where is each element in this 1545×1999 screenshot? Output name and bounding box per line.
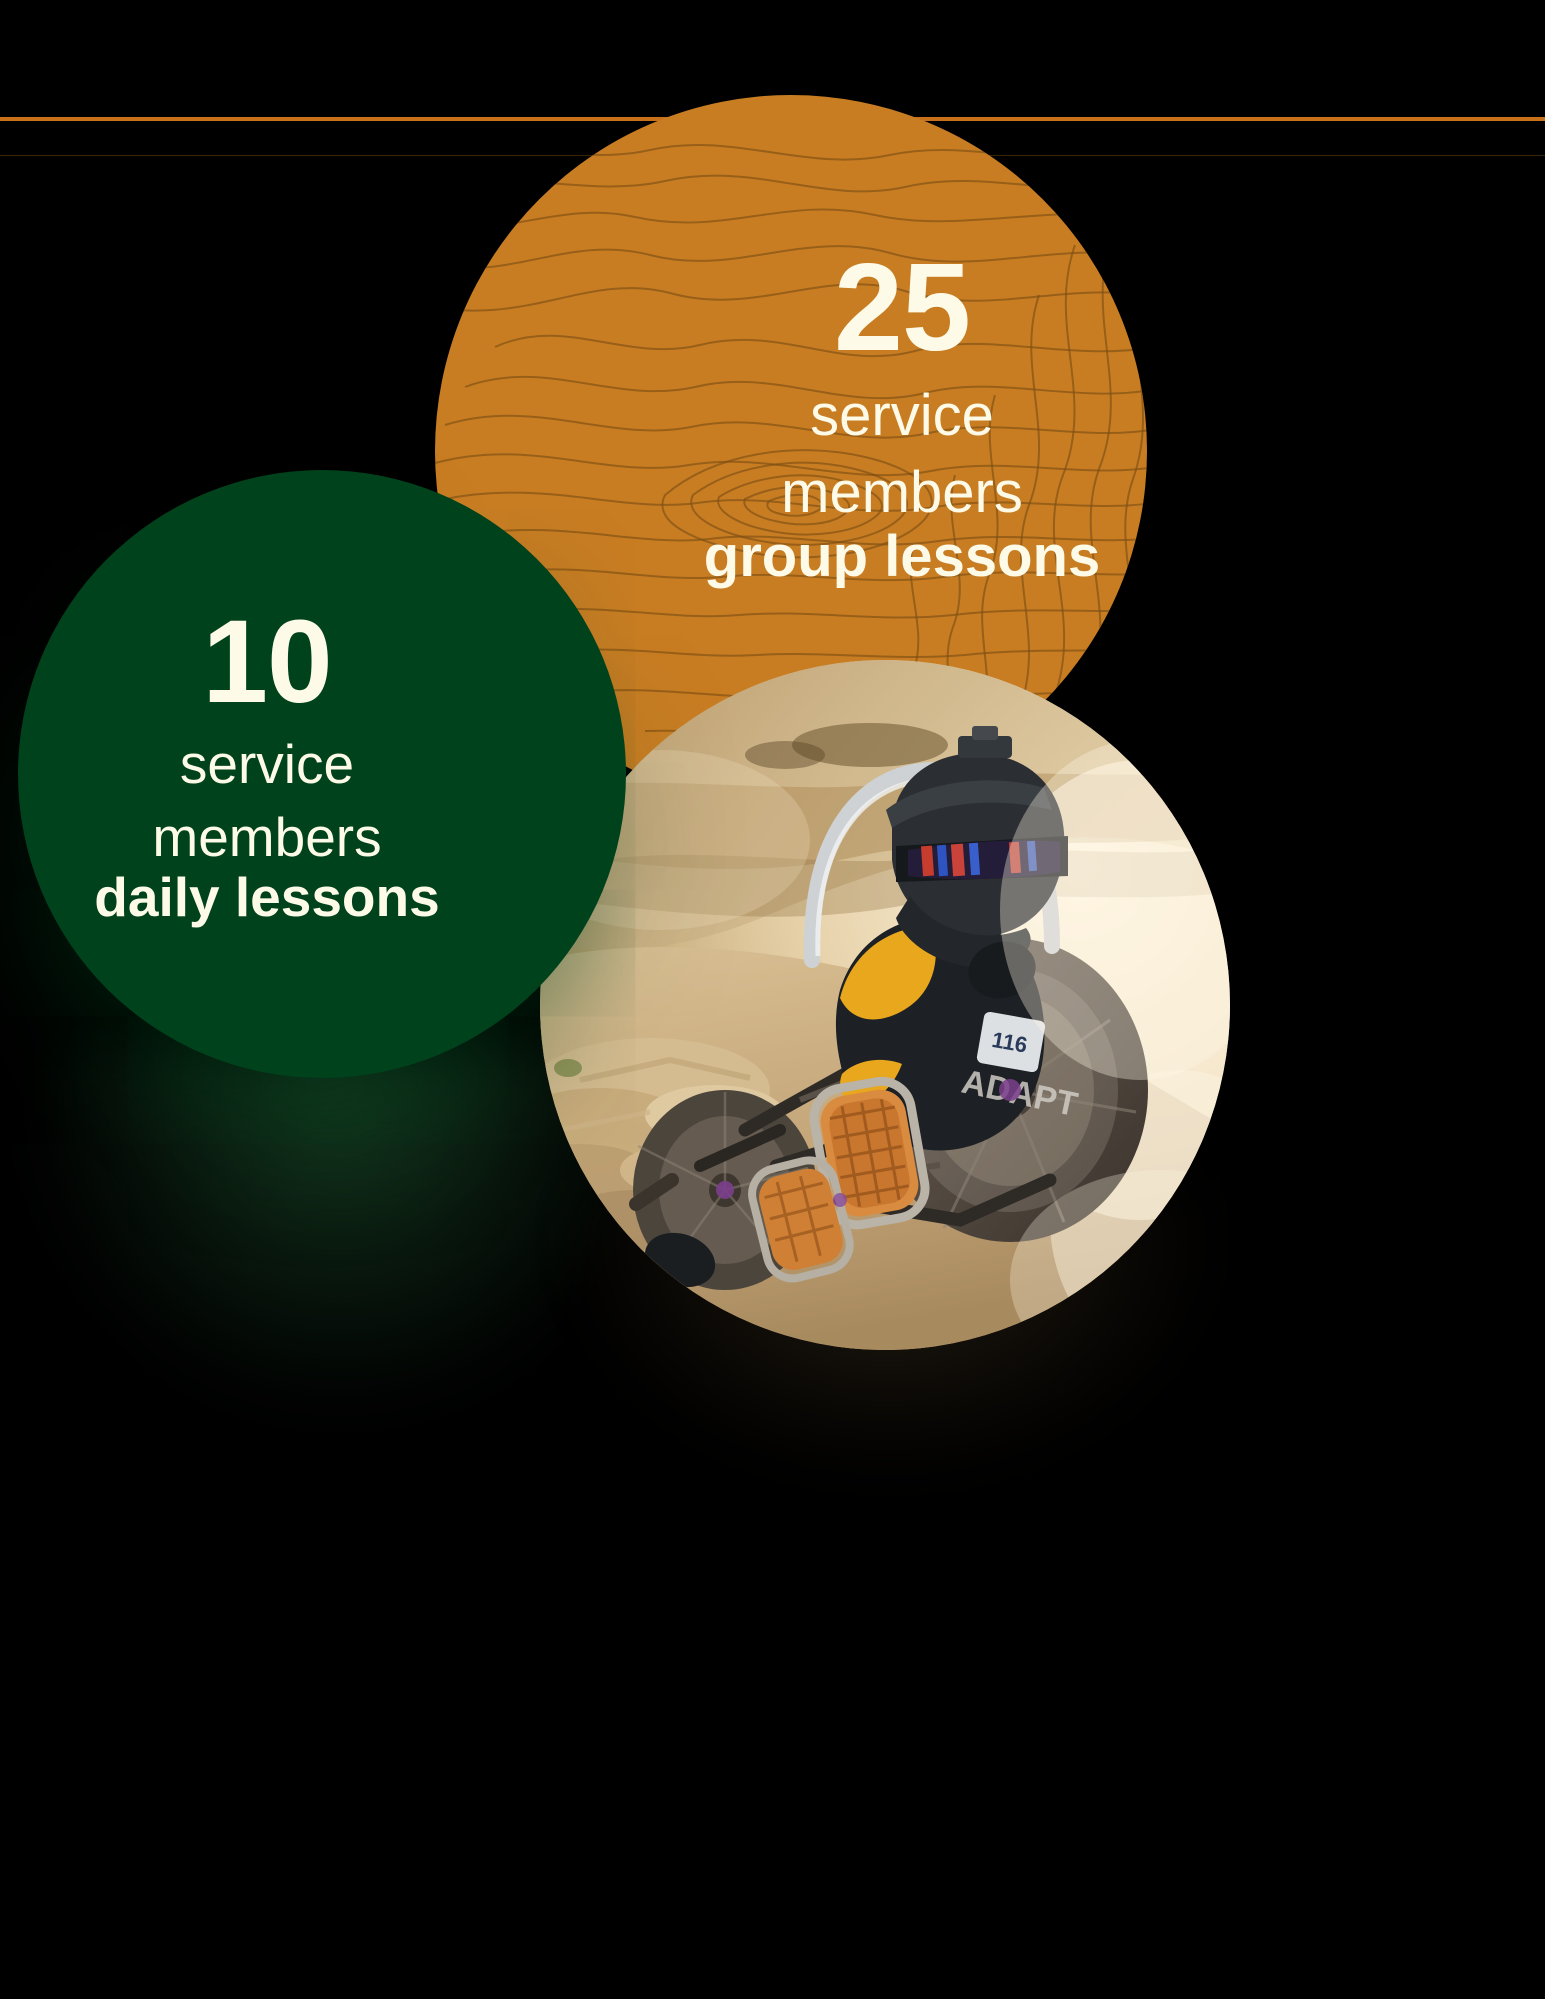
stat-emphasis-group-lessons: group lessons	[687, 525, 1117, 589]
photo-circle-adaptive-biker: ADAPT 116	[540, 660, 1230, 1350]
adaptive-mountain-biker-photo: ADAPT 116	[540, 660, 1230, 1350]
stat-line1-service: service	[687, 385, 1117, 448]
stat-emphasis-daily-lessons: daily lessons	[18, 867, 516, 928]
stat-text-daily-lessons: 10 service members daily lessons	[18, 602, 626, 928]
stat-line1-service: service	[18, 734, 516, 795]
stats-graphic-canvas: 25 service members group lessons	[0, 0, 1545, 1999]
stat-line2-members: members	[18, 807, 516, 868]
stat-circle-daily-lessons: 10 service members daily lessons	[18, 470, 626, 1078]
stat-text-group-lessons: 25 service members group lessons	[687, 245, 1117, 589]
stat-line2-members: members	[687, 462, 1117, 525]
stat-number-10: 10	[18, 602, 516, 722]
stat-number-25: 25	[687, 245, 1117, 371]
